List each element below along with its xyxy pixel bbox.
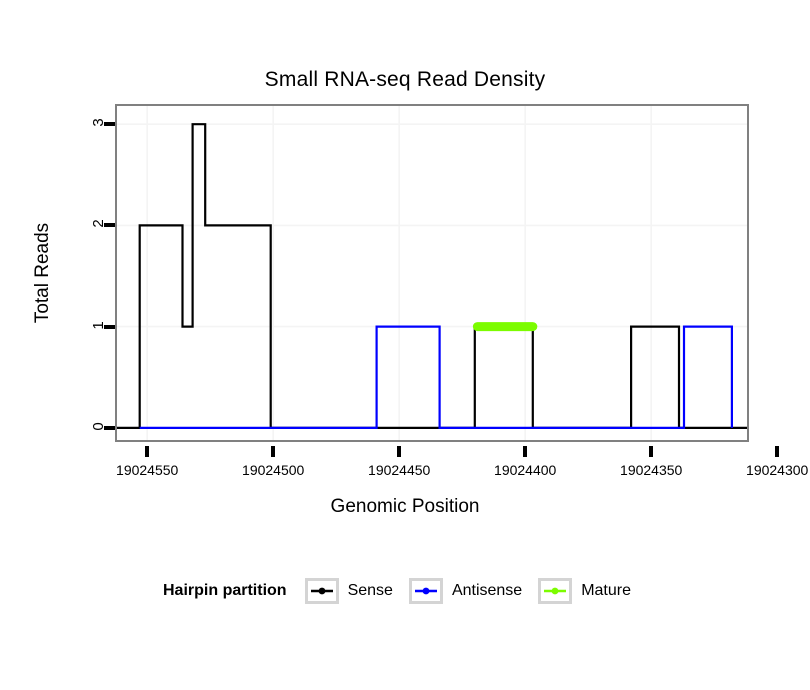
legend-key-sense-icon [305, 578, 339, 604]
x-tick-label: 19024500 [242, 462, 304, 478]
plot-panel [115, 104, 749, 442]
chart-root: Small RNA-seq Read Density Total Reads 0… [0, 0, 810, 690]
y-axis: 0123 [0, 104, 115, 442]
y-tick-label: 2 [90, 220, 107, 228]
x-tick-mark [649, 446, 653, 457]
y-tick-label: 3 [90, 119, 107, 127]
legend-label: Sense [348, 582, 393, 600]
legend-item-mature[interactable]: Mature [538, 578, 631, 604]
x-tick-label: 19024550 [116, 462, 178, 478]
x-tick-label: 19024400 [494, 462, 556, 478]
legend-item-antisense[interactable]: Antisense [409, 578, 522, 604]
series-sense [117, 124, 747, 428]
plot-area [117, 106, 747, 440]
x-tick-mark [523, 446, 527, 457]
y-tick-label: 0 [90, 422, 107, 430]
x-tick-mark [145, 446, 149, 457]
legend-label: Antisense [452, 582, 522, 600]
chart-legend: Hairpin partition SenseAntisenseMature [0, 578, 810, 604]
x-axis: 1902455019024500190244501902440019024350… [115, 442, 749, 502]
legend-item-sense[interactable]: Sense [305, 578, 393, 604]
x-tick-label: 19024300 [746, 462, 808, 478]
legend-key-antisense-icon [409, 578, 443, 604]
x-tick-label: 19024350 [620, 462, 682, 478]
legend-key-mature-icon [538, 578, 572, 604]
x-tick-mark [775, 446, 779, 457]
x-axis-title: Genomic Position [0, 496, 810, 518]
legend-title: Hairpin partition [163, 582, 287, 600]
data-series-layer [117, 106, 747, 440]
x-tick-label: 19024450 [368, 462, 430, 478]
x-tick-mark [397, 446, 401, 457]
series-antisense [140, 327, 732, 428]
y-tick-label: 1 [90, 321, 107, 329]
chart-title: Small RNA-seq Read Density [0, 68, 810, 92]
x-tick-mark [271, 446, 275, 457]
legend-items: SenseAntisenseMature [305, 578, 647, 604]
legend-label: Mature [581, 582, 631, 600]
